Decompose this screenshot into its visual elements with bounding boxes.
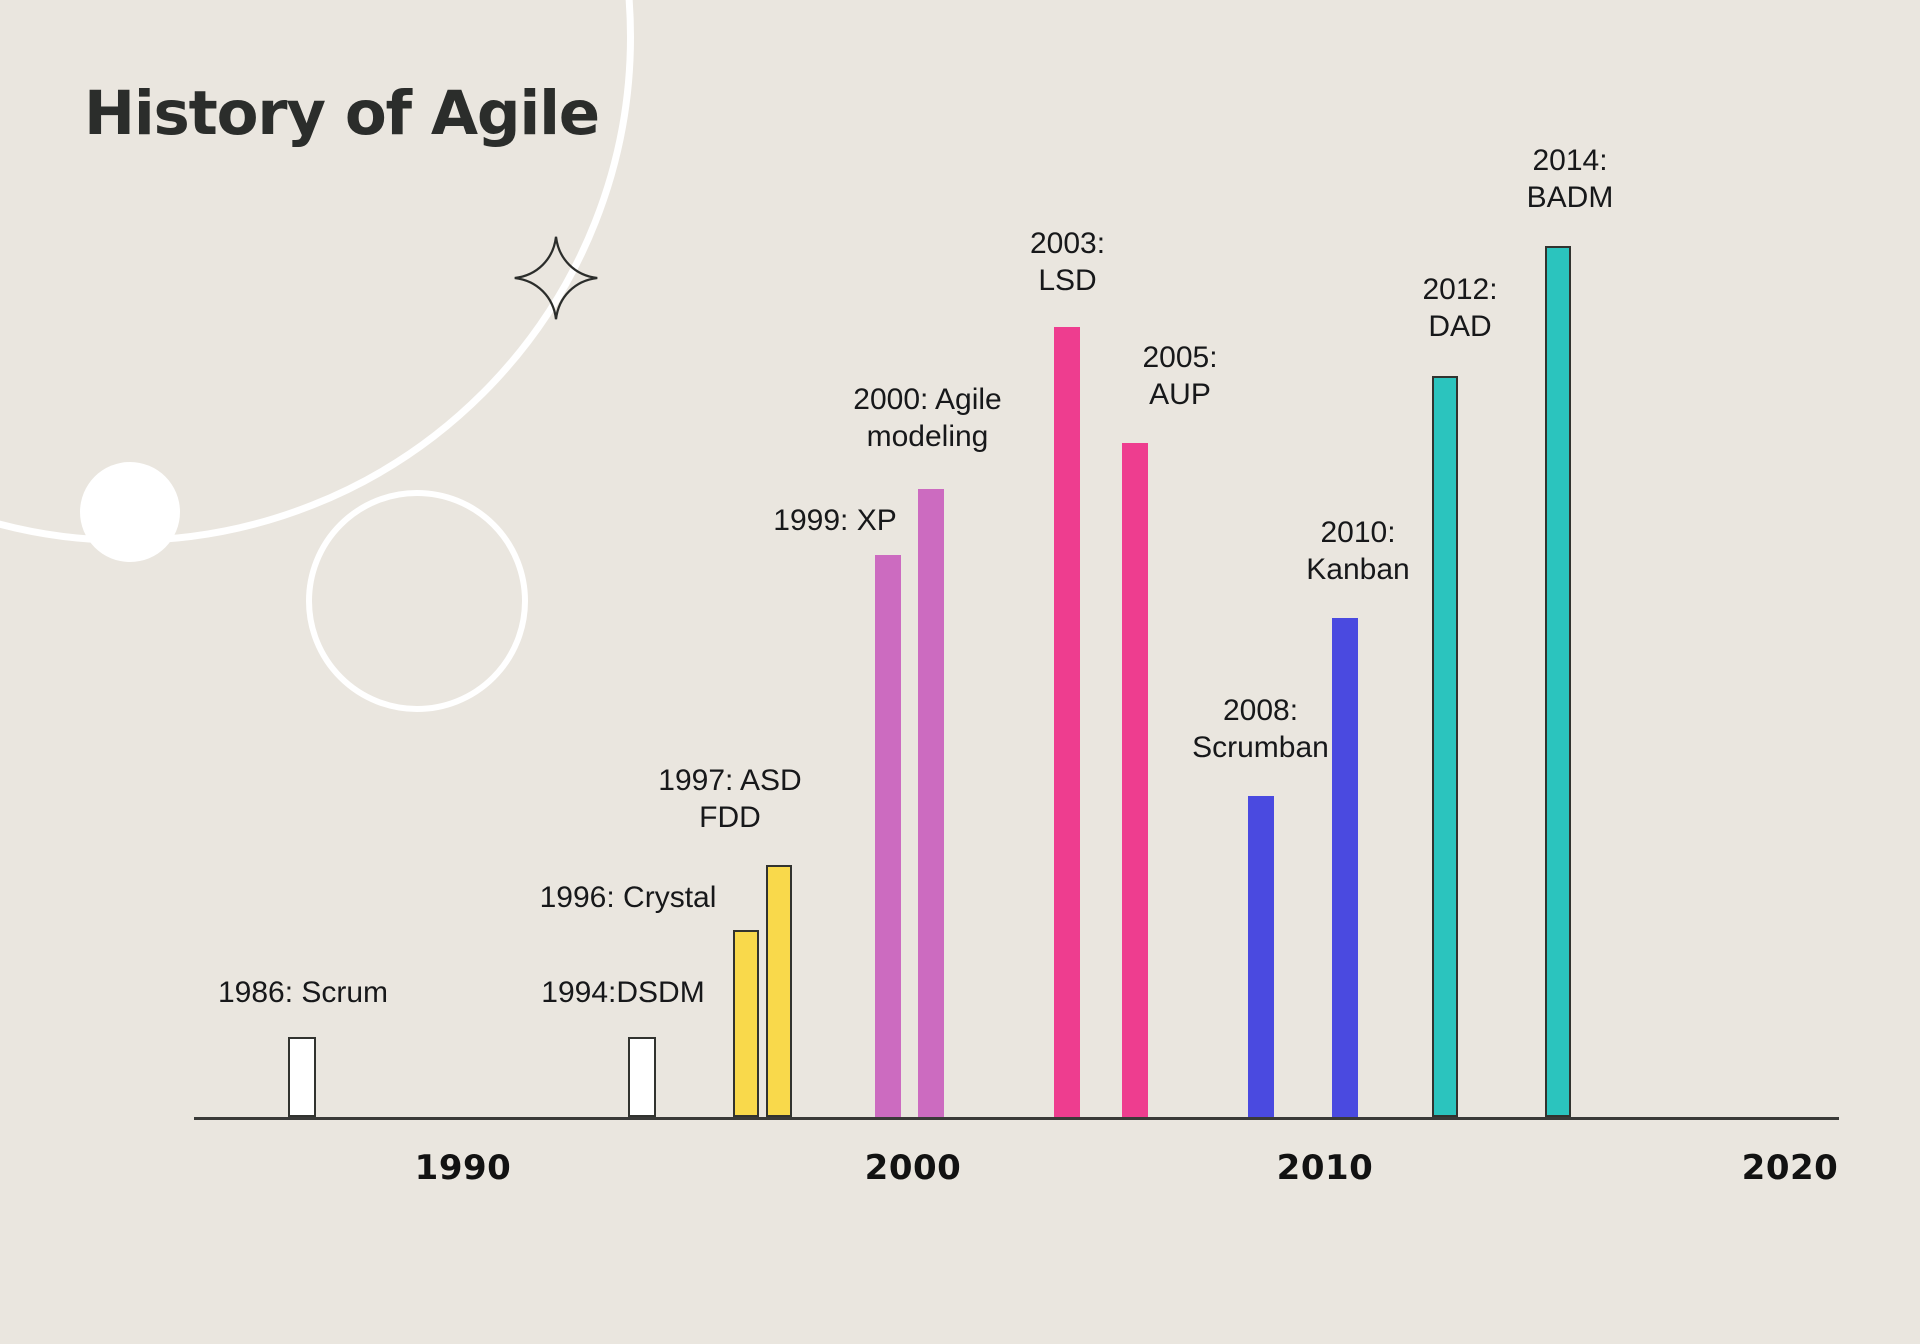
bar-label-2003: 2003: LSD [985, 226, 1150, 299]
bar-label-2012: 2012: DAD [1370, 272, 1550, 345]
bar-label-1996: 1996: Crystal [513, 880, 743, 917]
bar-1994[interactable] [628, 1037, 656, 1117]
bar-2008[interactable] [1248, 796, 1274, 1117]
bar-label-2000: 2000: Agile modeling [810, 382, 1045, 455]
infographic-canvas: History of Agile 1986: Scrum1994:DSDM199… [0, 0, 1920, 1344]
bar-2000[interactable] [918, 489, 944, 1117]
bar-label-2005: 2005: AUP [1100, 340, 1260, 413]
bar-label-2014: 2014: BADM [1470, 143, 1670, 216]
x-tick-2000: 2000 [865, 1148, 962, 1188]
bar-label-1997: 1997: ASD FDD [630, 763, 830, 836]
bar-2014[interactable] [1545, 246, 1571, 1117]
x-tick-1990: 1990 [415, 1148, 512, 1188]
bar-1996[interactable] [733, 930, 759, 1117]
bar-label-2010: 2010: Kanban [1258, 515, 1458, 588]
bar-2003[interactable] [1054, 327, 1080, 1117]
bar-1997[interactable] [766, 865, 792, 1117]
bar-label-1994: 1994:DSDM [513, 975, 733, 1012]
bar-label-2008: 2008: Scrumban [1143, 693, 1378, 766]
bar-label-1999: 1999: XP [745, 503, 925, 540]
x-axis-line [194, 1117, 1839, 1120]
bar-1999[interactable] [875, 555, 901, 1117]
bar-2012[interactable] [1432, 376, 1458, 1117]
x-tick-2020: 2020 [1742, 1148, 1839, 1188]
timeline-bar-chart: 1986: Scrum1994:DSDM1996: Crystal1997: A… [0, 0, 1920, 1344]
bar-1986[interactable] [288, 1037, 316, 1117]
bar-label-1986: 1986: Scrum [193, 975, 413, 1012]
bar-2005[interactable] [1122, 443, 1148, 1117]
x-tick-2010: 2010 [1277, 1148, 1374, 1188]
